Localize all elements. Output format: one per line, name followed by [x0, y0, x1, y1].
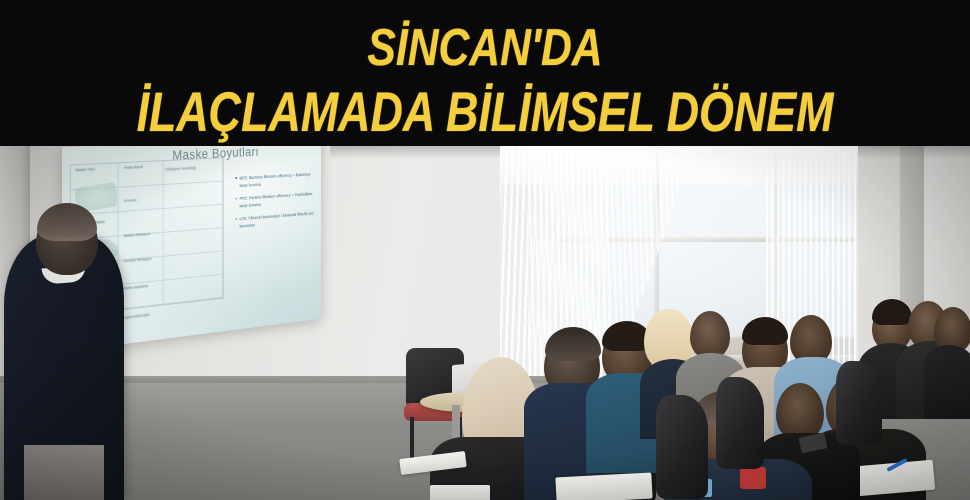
- chair-back: [656, 395, 708, 499]
- headline-line-2: İLAÇLAMADA BİLİMSEL DÖNEM: [97, 84, 873, 140]
- chair-back: [836, 361, 882, 445]
- news-banner-image: Maske Boyutları Maske Türü Paket Adedi F…: [0, 0, 970, 500]
- notebook: [430, 485, 490, 500]
- curtain-rod-sheer: [500, 145, 858, 185]
- slide-cell-label: Paket Adedi: [124, 165, 143, 171]
- slide-bullet: LFE: Filtrenin katmanları / Mekanik filt…: [235, 210, 316, 230]
- slide-cell-label: Koruma: [124, 198, 136, 204]
- slide-cell-label: Maske Türü: [75, 167, 94, 173]
- attendee-head: [690, 311, 730, 359]
- headline-line-1: SİNCAN'DA: [87, 22, 882, 74]
- slide-bullet-list: BFE: Bacteria filtration efficency = Bak…: [235, 171, 316, 237]
- photograph: Maske Boyutları Maske Türü Paket Adedi F…: [0, 145, 970, 500]
- slide-bullet: PFE: Particle filtration efficency = Par…: [235, 190, 316, 209]
- notebook: [555, 473, 652, 500]
- presenter-legs: [24, 445, 104, 500]
- vest-logo: [740, 467, 766, 489]
- attendee-torso: [924, 345, 970, 419]
- chair-back: [716, 377, 764, 469]
